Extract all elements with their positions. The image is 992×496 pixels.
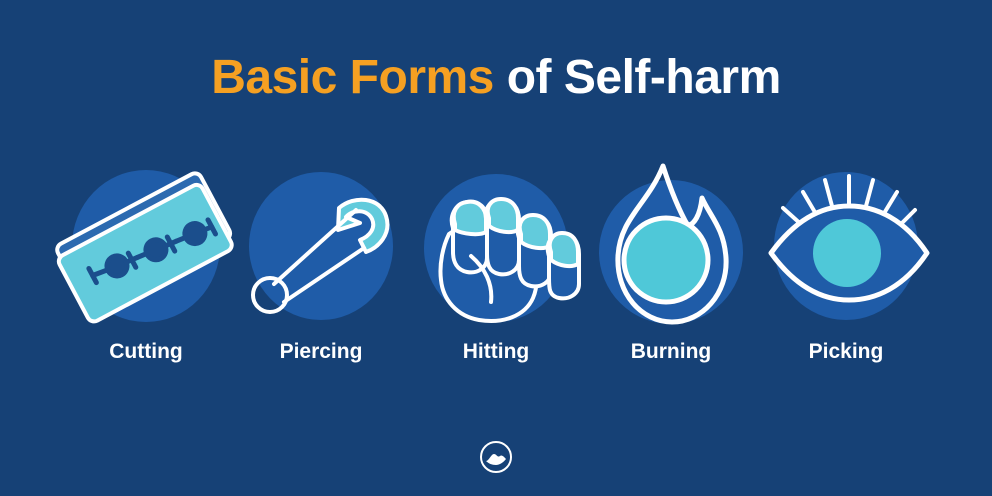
footer-logo: [0, 440, 992, 474]
fist-icon: [409, 160, 584, 332]
flame-icon: [584, 160, 759, 332]
infographic-poster: Basic Forms of Self-harm: [0, 0, 992, 496]
forms-list: Cutting Piercing: [0, 160, 992, 390]
list-item-label: Hitting: [409, 340, 584, 364]
razor-blade-icon: [59, 160, 234, 332]
page-title: Basic Forms of Self-harm: [0, 52, 992, 105]
list-item-label: Cutting: [59, 340, 234, 364]
page-title-accent: Basic Forms: [211, 51, 494, 104]
list-item-hitting: Hitting: [409, 160, 584, 390]
mountain-circle-logo: [479, 440, 513, 474]
list-item-label: Picking: [759, 340, 934, 364]
list-item-piercing: Piercing: [234, 160, 409, 390]
eye-icon: [759, 160, 934, 332]
list-item-label: Piercing: [234, 340, 409, 364]
list-item-label: Burning: [584, 340, 759, 364]
safety-pin-icon: [234, 160, 409, 332]
list-item-picking: Picking: [759, 160, 934, 390]
list-item-burning: Burning: [584, 160, 759, 390]
list-item-cutting: Cutting: [59, 160, 234, 390]
page-title-rest: of Self-harm: [494, 51, 781, 104]
